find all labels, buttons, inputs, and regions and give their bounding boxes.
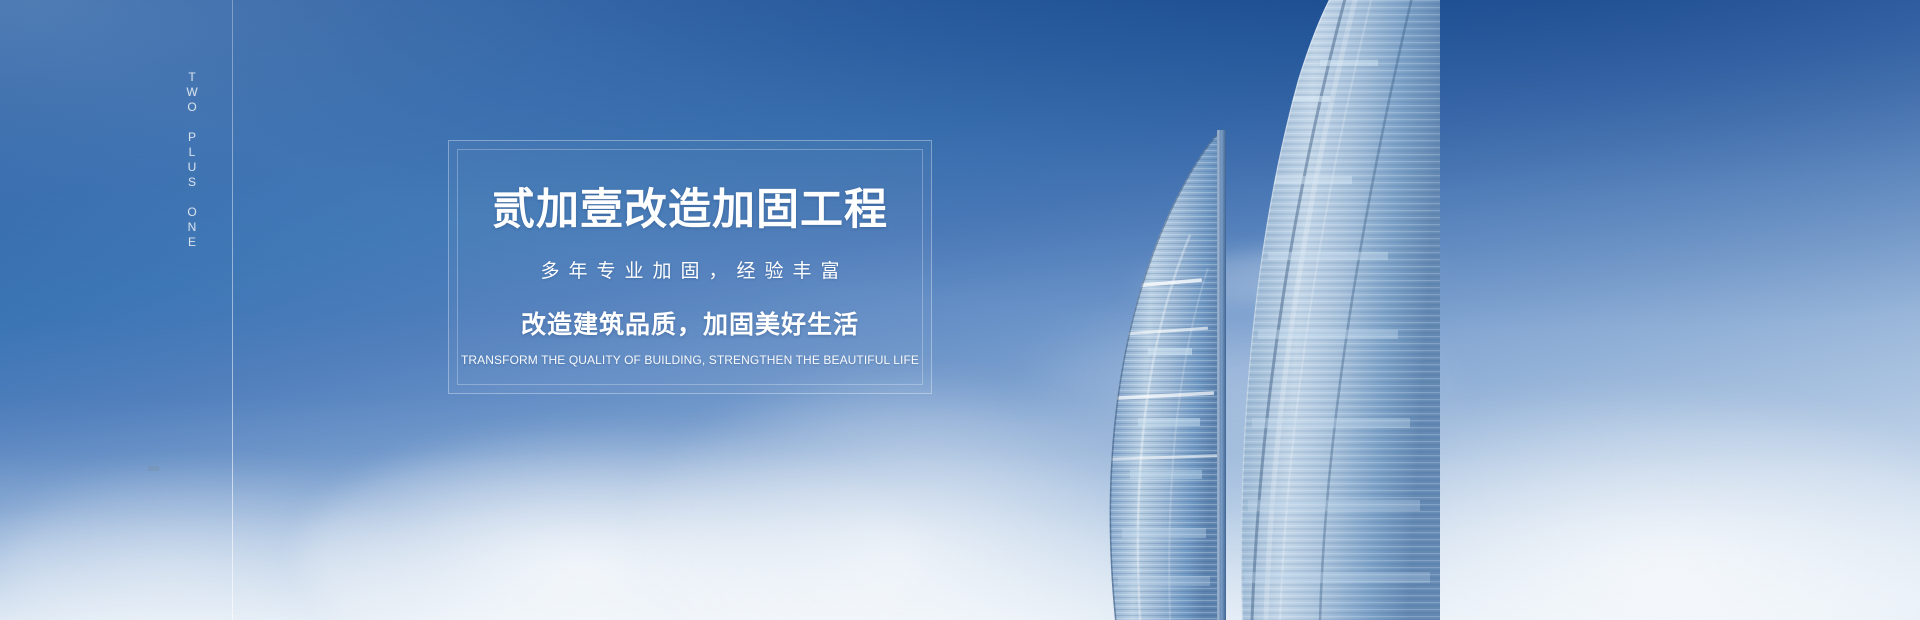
english-tagline: TRANSFORM THE QUALITY OF BUILDING, STREN… bbox=[461, 353, 919, 367]
copy-stack: 贰加壹改造加固工程 多年专业加固，经验丰富 改造建筑品质，加固美好生活 TRAN… bbox=[449, 141, 931, 393]
copy-frame-outer: 贰加壹改造加固工程 多年专业加固，经验丰富 改造建筑品质，加固美好生活 TRAN… bbox=[448, 140, 932, 394]
sky-bottom-haze bbox=[0, 0, 1920, 620]
subtitle-line: 多年专业加固，经验丰富 bbox=[531, 256, 848, 283]
slogan-line: 改造建筑品质，加固美好生活 bbox=[521, 305, 859, 341]
hero-banner: TWO PLUS ONE 贰加壹改造加固工程 多年专业加固，经验丰富 改造建筑品… bbox=[0, 0, 1920, 620]
small-rectangular-mark bbox=[148, 466, 159, 471]
vertical-brand-text: TWO PLUS ONE bbox=[182, 70, 204, 250]
left-divider-line bbox=[232, 0, 233, 620]
headline-title: 贰加壹改造加固工程 bbox=[492, 186, 888, 234]
skyscraper-illustration bbox=[1020, 0, 1440, 620]
